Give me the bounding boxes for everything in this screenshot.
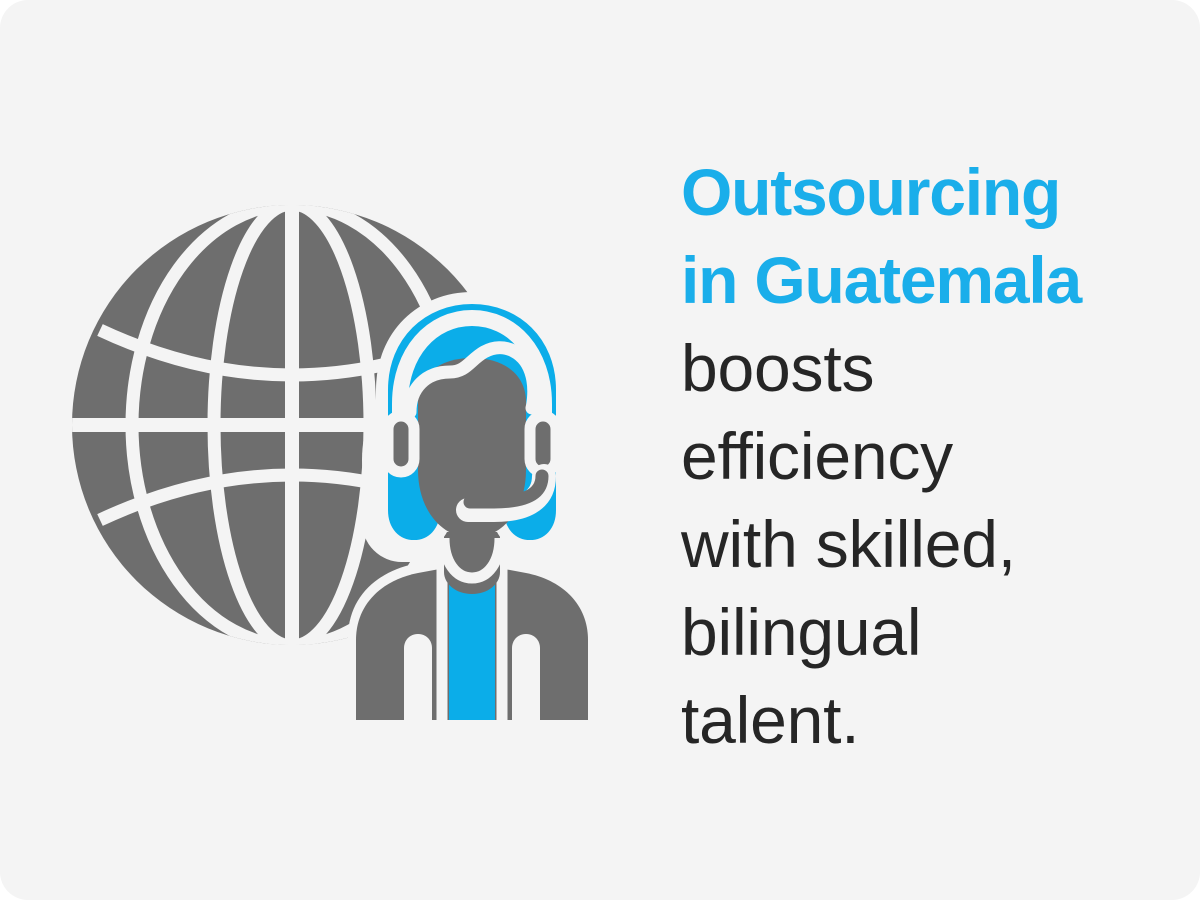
body-line-1: boosts [681, 324, 1151, 412]
headline-line-2: in Guatemala [681, 236, 1151, 324]
headset-left-earcup [388, 416, 414, 472]
body-line-3: with skilled, [681, 500, 1151, 588]
body-line-4: bilingual [681, 588, 1151, 676]
agent-left-sleeve-seam [404, 634, 432, 720]
customer-service-agent-icon [356, 298, 588, 720]
headline-text-block: Outsourcing in Guatemala boosts efficien… [681, 148, 1151, 764]
agent-shirt [449, 573, 495, 720]
body-line-2: efficiency [681, 412, 1151, 500]
globe-agent-illustration [70, 180, 610, 720]
body-line-5: talent. [681, 676, 1151, 764]
illustration-svg [70, 180, 610, 720]
headline-line-1: Outsourcing [681, 148, 1151, 236]
agent-right-sleeve-seam [512, 634, 540, 720]
headset-right-earcup [530, 416, 556, 472]
promo-card: Outsourcing in Guatemala boosts efficien… [0, 0, 1200, 900]
